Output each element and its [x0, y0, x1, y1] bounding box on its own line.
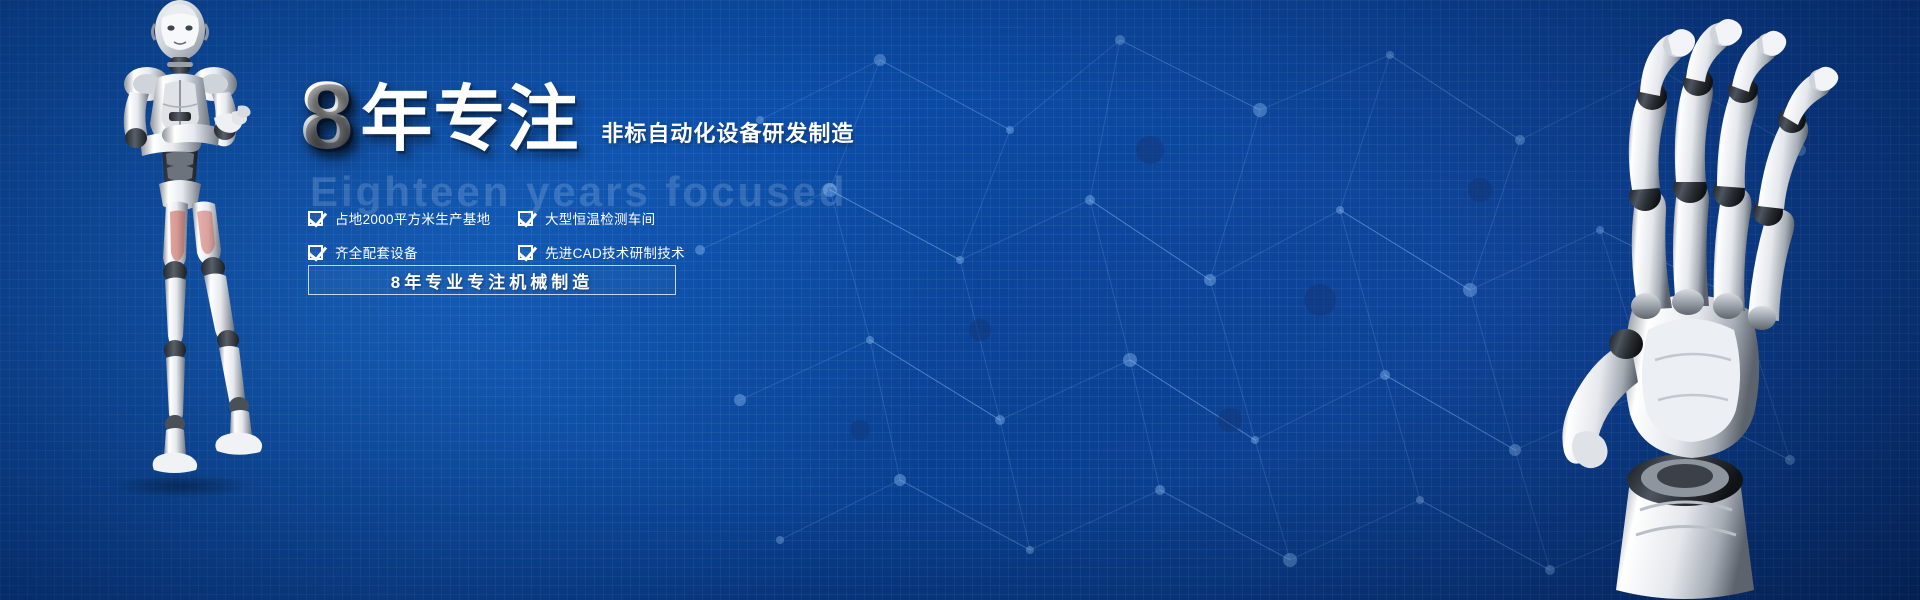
checkbox-checked-icon — [308, 245, 323, 260]
banner-content: 8 年专注 非标自动化设备研发制造 Eighteen years focused… — [300, 70, 1120, 330]
feature-label: 大型恒温检测车间 — [545, 208, 655, 228]
cta-banner-button[interactable]: 8年专业专注机械制造 — [308, 265, 676, 295]
headline-number: 8 — [300, 72, 360, 160]
feature-label: 齐全配套设备 — [335, 242, 418, 262]
robotic-hand-image — [1480, 10, 1900, 600]
checkbox-checked-icon — [308, 211, 323, 226]
subtitle: 非标自动化设备研发制造 — [601, 116, 854, 160]
cta-label: 8年专业专注机械制造 — [391, 268, 593, 293]
feature-list: 占地2000平方米生产基地 大型恒温检测车间 齐全配套设备 先进CAD技术研制技… — [308, 208, 728, 262]
feature-item: 齐全配套设备 — [308, 242, 518, 262]
headline: 8 年专注 — [300, 72, 579, 160]
humanoid-robot-image — [62, 0, 292, 500]
headline-row: 8 年专注 非标自动化设备研发制造 — [300, 70, 1120, 160]
feature-label: 占地2000平方米生产基地 — [335, 208, 490, 228]
checkbox-checked-icon — [518, 211, 533, 226]
feature-label: 先进CAD技术研制技术 — [545, 242, 685, 262]
feature-item: 先进CAD技术研制技术 — [518, 242, 728, 262]
feature-item: 占地2000平方米生产基地 — [308, 208, 518, 228]
feature-item: 大型恒温检测车间 — [518, 208, 728, 228]
banner-root: 8 年专注 非标自动化设备研发制造 Eighteen years focused… — [0, 0, 1920, 600]
checkbox-checked-icon — [518, 245, 533, 260]
headline-chinese: 年专注 — [360, 84, 579, 160]
